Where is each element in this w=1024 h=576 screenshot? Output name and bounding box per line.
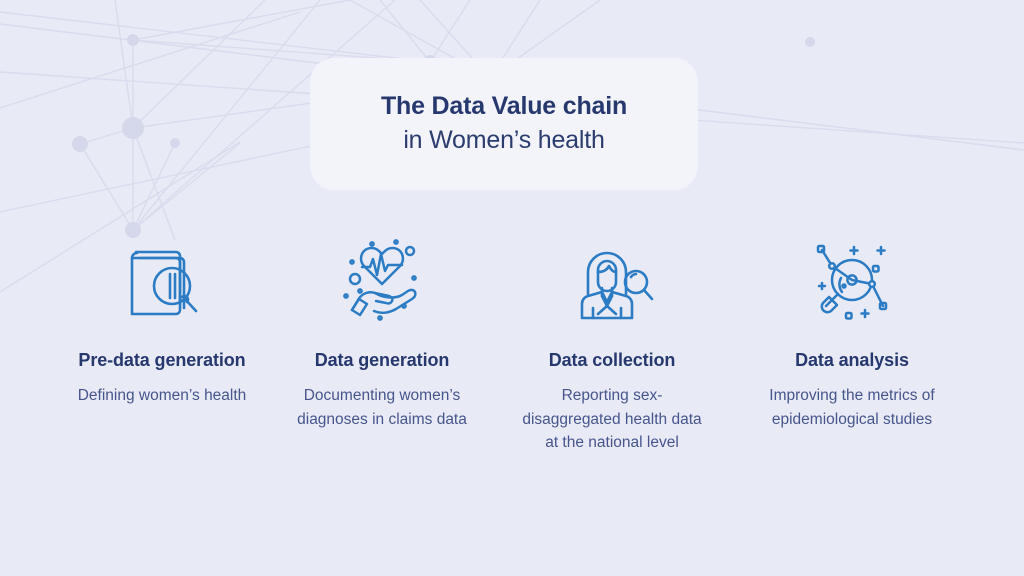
woman-magnifier-icon bbox=[566, 232, 658, 332]
step-title: Data analysis bbox=[795, 350, 909, 371]
step-description: Improving the metrics of epidemiological… bbox=[757, 384, 947, 431]
step-description: Defining women’s health bbox=[78, 384, 247, 408]
magnifier-network-icon bbox=[806, 232, 898, 332]
value-chain-step-data-analysis: Data analysis Improving the metrics of e… bbox=[742, 232, 962, 455]
title-primary: The Data Value chain bbox=[381, 90, 627, 124]
value-chain-step-data-generation: Data generation Documenting women’s diag… bbox=[272, 232, 492, 455]
step-description: Reporting sex-disaggregated health data … bbox=[517, 384, 707, 455]
title-card: The Data Value chain in Women’s health bbox=[310, 58, 698, 190]
step-description: Documenting women’s diagnoses in claims … bbox=[287, 384, 477, 431]
title-secondary: in Women’s health bbox=[403, 124, 604, 158]
step-title: Data generation bbox=[315, 350, 450, 371]
book-magnifier-icon bbox=[116, 232, 208, 332]
step-title: Data collection bbox=[549, 350, 676, 371]
value-chain-step-pre-data-generation: Pre-data generation Defining women’s hea… bbox=[52, 232, 272, 455]
value-chain-step-data-collection: Data collection Reporting sex-disaggrega… bbox=[502, 232, 722, 455]
value-chain-columns: Pre-data generation Defining women’s hea… bbox=[0, 232, 1024, 455]
hand-heart-pulse-icon bbox=[334, 232, 430, 332]
step-title: Pre-data generation bbox=[78, 350, 245, 371]
